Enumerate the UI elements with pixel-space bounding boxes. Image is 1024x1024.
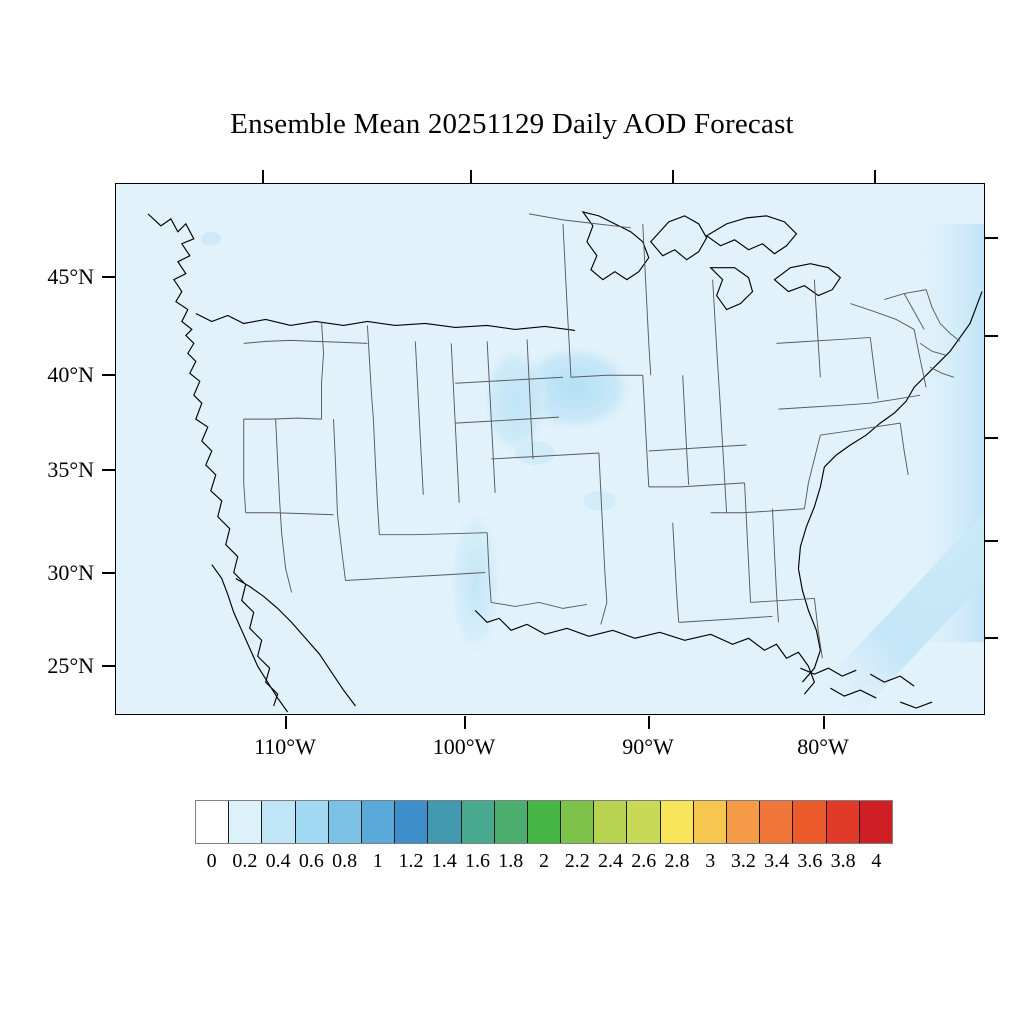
- colorbar-cell: [329, 801, 362, 843]
- y-tick-mark-right: [985, 437, 998, 439]
- colorbar-tick-label: 1.6: [465, 850, 490, 873]
- colorbar-cell: [428, 801, 461, 843]
- colorbar-cell: [262, 801, 295, 843]
- colorbar-cell: [627, 801, 660, 843]
- y-tick-label-35n: 35°N: [0, 457, 94, 483]
- map-canvas: [116, 184, 984, 714]
- colorbar-tick-label: 3.4: [764, 850, 789, 873]
- y-tick-label-45n: 45°N: [0, 264, 94, 290]
- colorbar-cell: [362, 801, 395, 843]
- colorbar-cell: [495, 801, 528, 843]
- map-plot-area: [115, 183, 985, 715]
- figure-title: Ensemble Mean 20251129 Daily AOD Forecas…: [0, 108, 1024, 141]
- colorbar-cell: [594, 801, 627, 843]
- colorbar-cell: [793, 801, 826, 843]
- colorbar-tick-label: 2.4: [598, 850, 623, 873]
- colorbar-cell: [827, 801, 860, 843]
- colorbar-tick-label: 0.2: [232, 850, 257, 873]
- colorbar-cell: [528, 801, 561, 843]
- y-tick-mark: [102, 469, 115, 471]
- colorbar-tick-label: 0.6: [299, 850, 324, 873]
- y-tick-mark: [102, 572, 115, 574]
- colorbar-tick-label: 1.8: [498, 850, 523, 873]
- x-tick-label-100w: 100°W: [433, 734, 496, 760]
- colorbar-tick-label: 3.8: [831, 850, 856, 873]
- y-tick-mark-right: [985, 335, 998, 337]
- y-tick-mark-right: [985, 540, 998, 542]
- y-tick-mark: [102, 276, 115, 278]
- colorbar-cell: [561, 801, 594, 843]
- y-tick-mark: [102, 665, 115, 667]
- y-tick-label-25n: 25°N: [0, 653, 94, 679]
- colorbar-swatches: [195, 800, 893, 844]
- colorbar-cell: [694, 801, 727, 843]
- colorbar: [195, 800, 893, 844]
- x-tick-mark-top: [672, 170, 674, 183]
- colorbar-tick-label: 2: [539, 850, 549, 873]
- y-tick-mark: [102, 374, 115, 376]
- x-tick-label-90w: 90°W: [622, 734, 674, 760]
- colorbar-cell: [296, 801, 329, 843]
- y-tick-mark-right: [985, 637, 998, 639]
- x-tick-mark-top: [874, 170, 876, 183]
- y-tick-label-40n: 40°N: [0, 362, 94, 388]
- x-tick-label-110w: 110°W: [254, 734, 316, 760]
- colorbar-tick-label: 0: [207, 850, 217, 873]
- x-tick-label-80w: 80°W: [797, 734, 849, 760]
- y-tick-mark-right: [985, 237, 998, 239]
- x-tick-mark-top: [262, 170, 264, 183]
- x-tick-mark: [648, 716, 650, 729]
- colorbar-tick-label: 3.6: [797, 850, 822, 873]
- colorbar-tick-label: 0.4: [266, 850, 291, 873]
- y-tick-label-30n: 30°N: [0, 560, 94, 586]
- aod-forecast-figure: Ensemble Mean 20251129 Daily AOD Forecas…: [0, 0, 1024, 1024]
- colorbar-cell: [462, 801, 495, 843]
- colorbar-tick-label: 2.6: [631, 850, 656, 873]
- x-tick-mark-top: [470, 170, 472, 183]
- colorbar-tick-label: 2.2: [565, 850, 590, 873]
- colorbar-cell: [760, 801, 793, 843]
- colorbar-tick-label: 1: [373, 850, 383, 873]
- x-tick-mark: [285, 716, 287, 729]
- colorbar-tick-label: 2.8: [664, 850, 689, 873]
- colorbar-tick-label: 1.2: [399, 850, 424, 873]
- colorbar-tick-label: 3.2: [731, 850, 756, 873]
- x-tick-mark: [823, 716, 825, 729]
- colorbar-cell: [196, 801, 229, 843]
- colorbar-cell: [860, 801, 892, 843]
- colorbar-tick-labels: 00.20.40.60.811.21.41.61.822.22.42.62.83…: [195, 850, 893, 880]
- colorbar-tick-label: 3: [705, 850, 715, 873]
- colorbar-cell: [395, 801, 428, 843]
- colorbar-cell: [229, 801, 262, 843]
- colorbar-tick-label: 0.8: [332, 850, 357, 873]
- colorbar-cell: [661, 801, 694, 843]
- colorbar-cell: [727, 801, 760, 843]
- colorbar-tick-label: 1.4: [432, 850, 457, 873]
- colorbar-tick-label: 4: [871, 850, 881, 873]
- x-tick-mark: [464, 716, 466, 729]
